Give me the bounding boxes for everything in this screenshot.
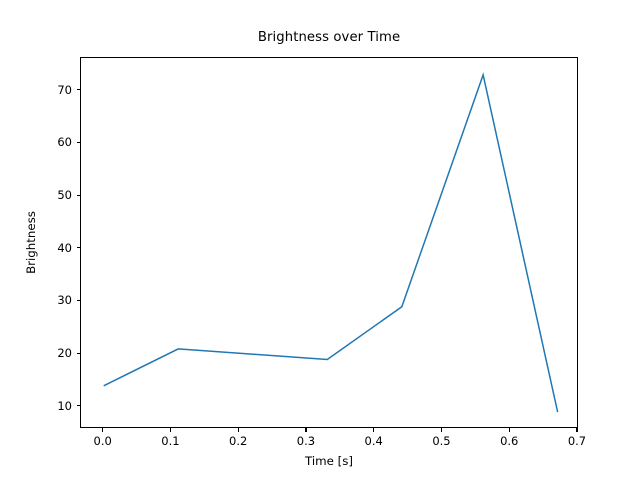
x-tick-label: 0.5 xyxy=(432,434,450,448)
x-tick-mark xyxy=(238,428,239,432)
y-tick-mark xyxy=(77,247,81,248)
y-tick-mark xyxy=(77,353,81,354)
y-tick-mark xyxy=(77,300,81,301)
brightness-line xyxy=(104,75,558,412)
x-tick-label: 0.6 xyxy=(500,434,518,448)
x-tick-label: 0.7 xyxy=(568,434,586,448)
y-tick-mark xyxy=(77,89,81,90)
x-tick-mark xyxy=(441,428,442,432)
figure-canvas: Brightness over Time 0.00.10.20.30.40.50… xyxy=(0,0,640,480)
y-axis-label: Brightness xyxy=(24,57,44,428)
x-tick-mark xyxy=(373,428,374,432)
line-series-plot xyxy=(81,58,579,429)
x-tick-mark xyxy=(102,428,103,432)
chart-title: Brightness over Time xyxy=(80,30,578,45)
y-tick-mark xyxy=(77,195,81,196)
x-tick-mark xyxy=(576,428,577,432)
x-tick-mark xyxy=(170,428,171,432)
x-axis-label: Time [s] xyxy=(80,454,578,468)
x-tick-mark xyxy=(305,428,306,432)
x-tick-label: 0.3 xyxy=(297,434,315,448)
x-tick-label: 0.2 xyxy=(229,434,247,448)
y-tick-mark xyxy=(77,142,81,143)
x-tick-label: 0.1 xyxy=(161,434,179,448)
plot-axes xyxy=(80,57,578,428)
x-tick-mark xyxy=(509,428,510,432)
x-tick-label: 0.4 xyxy=(365,434,383,448)
x-tick-label: 0.0 xyxy=(94,434,112,448)
y-tick-mark xyxy=(77,405,81,406)
